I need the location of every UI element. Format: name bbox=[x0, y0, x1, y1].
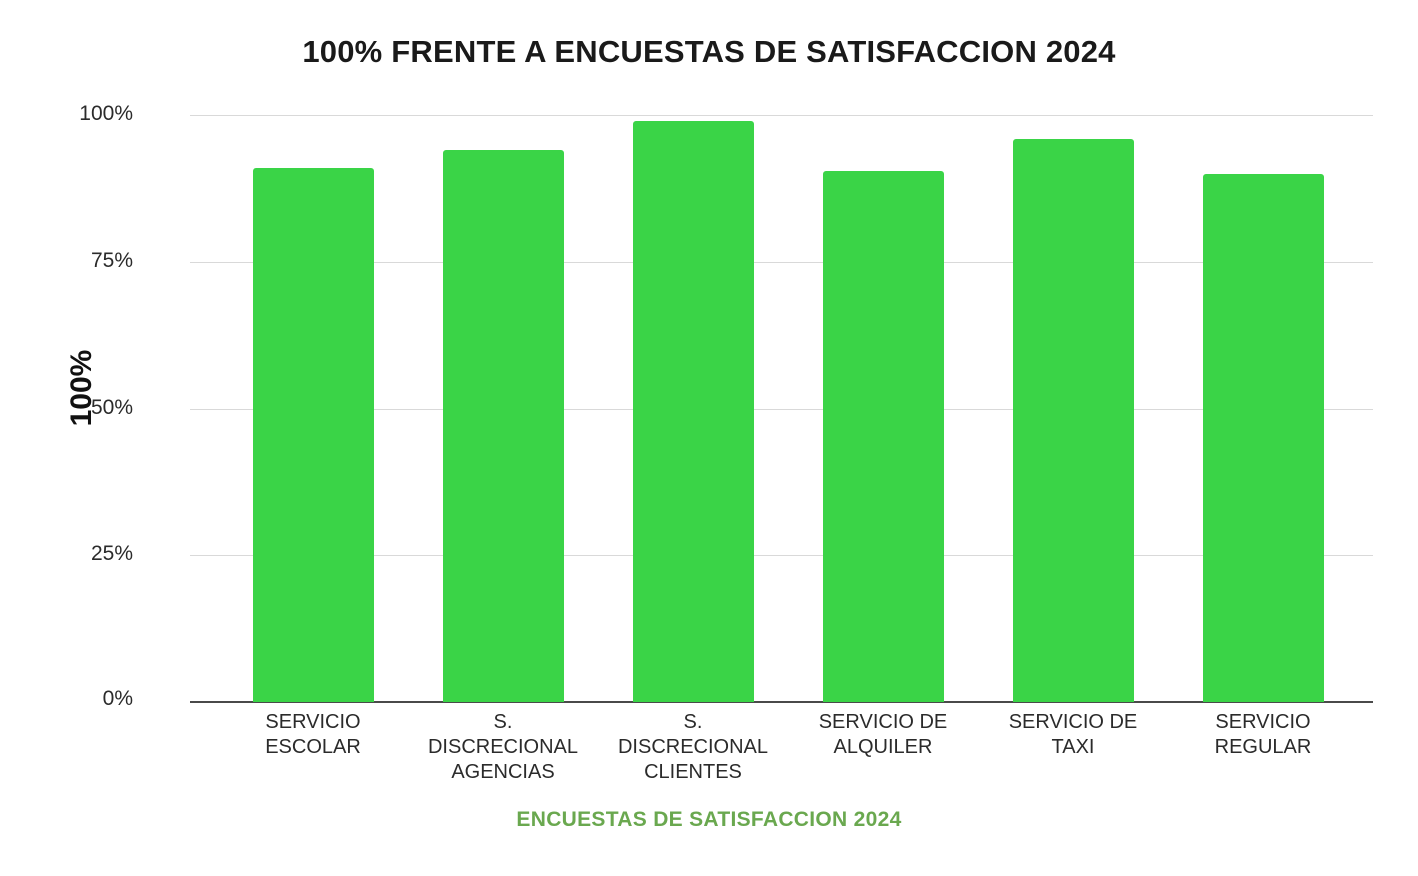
bar-servicio-regular[interactable] bbox=[1203, 174, 1324, 702]
x-tick-line: SERVICIO bbox=[1168, 710, 1358, 735]
y-tick-label-0: 0% bbox=[13, 687, 133, 711]
bar-servicio-escolar[interactable] bbox=[253, 168, 374, 702]
bar-s-discrecional-agencias[interactable] bbox=[443, 150, 564, 702]
y-tick-label-75: 75% bbox=[13, 249, 133, 273]
y-axis-title: 100% bbox=[62, 328, 102, 448]
x-tick-label-servicio-regular: SERVICIO REGULAR bbox=[1168, 710, 1358, 760]
x-tick-line: TAXI bbox=[978, 735, 1168, 760]
y-tick-label-100: 100% bbox=[13, 102, 133, 126]
x-tick-line: DISCRECIONAL bbox=[408, 735, 598, 760]
x-tick-label-s-discrecional-clientes: S. DISCRECIONAL CLIENTES bbox=[598, 710, 788, 785]
y-tick-label-50: 50% bbox=[13, 396, 133, 420]
x-tick-line: CLIENTES bbox=[598, 760, 788, 785]
x-tick-label-s-discrecional-agencias: S. DISCRECIONAL AGENCIAS bbox=[408, 710, 598, 785]
x-tick-line: SERVICIO DE bbox=[788, 710, 978, 735]
y-tick-label-25: 25% bbox=[13, 542, 133, 566]
x-tick-line: AGENCIAS bbox=[408, 760, 598, 785]
x-axis-title: ENCUESTAS DE SATISFACCION 2024 bbox=[0, 808, 1418, 832]
bar-servicio-de-alquiler[interactable] bbox=[823, 171, 944, 702]
x-tick-line: S. bbox=[408, 710, 598, 735]
plot-area: 100% 75% 50% 25% 0% bbox=[190, 115, 1373, 702]
x-tick-label-servicio-de-alquiler: SERVICIO DE ALQUILER bbox=[788, 710, 978, 760]
bar-servicio-de-taxi[interactable] bbox=[1013, 139, 1134, 702]
bars-layer bbox=[190, 115, 1373, 702]
x-tick-line: SERVICIO bbox=[218, 710, 408, 735]
bar-chart: 100% FRENTE A ENCUESTAS DE SATISFACCION … bbox=[0, 0, 1418, 876]
x-tick-label-servicio-de-taxi: SERVICIO DE TAXI bbox=[978, 710, 1168, 760]
x-tick-line: ESCOLAR bbox=[218, 735, 408, 760]
x-tick-line: ALQUILER bbox=[788, 735, 978, 760]
bar-s-discrecional-clientes[interactable] bbox=[633, 121, 754, 702]
x-tick-line: REGULAR bbox=[1168, 735, 1358, 760]
x-tick-line: S. bbox=[598, 710, 788, 735]
chart-title: 100% FRENTE A ENCUESTAS DE SATISFACCION … bbox=[0, 34, 1418, 70]
x-tick-line: SERVICIO DE bbox=[978, 710, 1168, 735]
x-axis-category-labels: SERVICIO ESCOLAR S. DISCRECIONAL AGENCIA… bbox=[190, 710, 1373, 790]
x-tick-line: DISCRECIONAL bbox=[598, 735, 788, 760]
x-tick-label-servicio-escolar: SERVICIO ESCOLAR bbox=[218, 710, 408, 760]
